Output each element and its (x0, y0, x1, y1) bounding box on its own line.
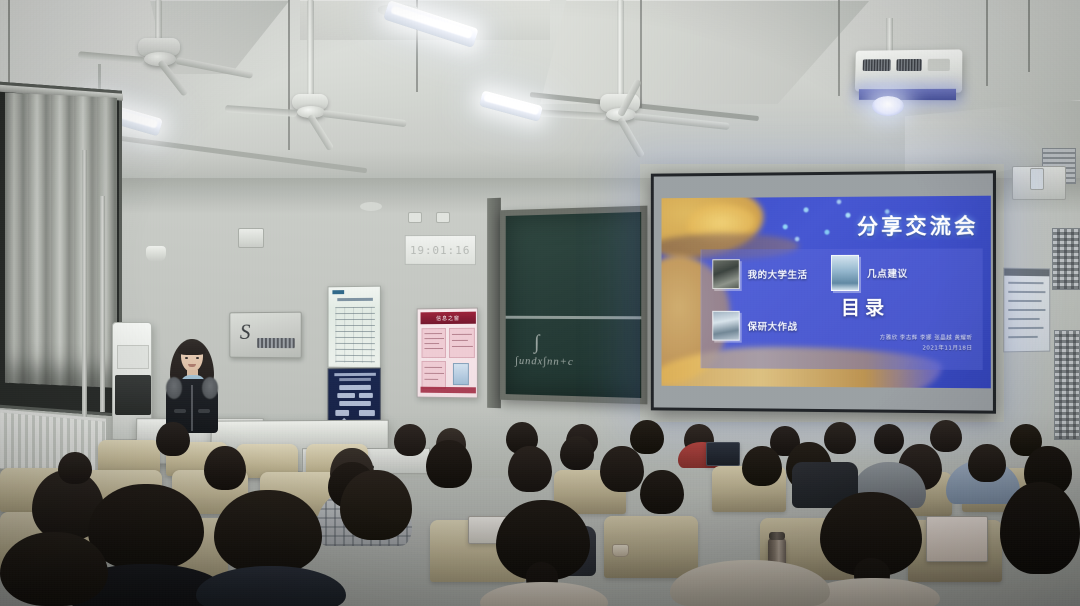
projection-screen: 分享交流会 我的大学生活 几点建议 保研大作战 目录 方雅欣 李志辉 李娜 张晶… (651, 170, 996, 413)
audience-head (508, 446, 552, 492)
power-outlet[interactable] (408, 212, 422, 223)
ventilation-grille (1054, 330, 1080, 440)
presenter (160, 337, 224, 433)
hanger-rod (1028, 0, 1030, 72)
presenter-coat-pocket (198, 409, 210, 413)
projector-base (859, 89, 956, 100)
audience-head (560, 436, 594, 470)
info-notice-card (453, 363, 469, 385)
audience-member (394, 424, 426, 456)
presenter-coat-pocket (174, 409, 186, 413)
tablet-device[interactable] (926, 516, 988, 562)
info-board-header: 信息之窗 (421, 312, 476, 325)
classroom-scene: S 19:01:16 信息之窗 (0, 0, 1080, 606)
chalkboard-divider (506, 316, 642, 320)
poster-title-line (334, 373, 376, 376)
green-chalkboard: ∫ ∫undx∫nn+c (500, 206, 647, 405)
presenter-mouth (188, 364, 196, 367)
hanger-rod (986, 0, 988, 86)
fan-pole (155, 0, 162, 42)
audience-shoulders (196, 566, 346, 606)
audience-head (600, 446, 644, 492)
info-cell (422, 361, 446, 389)
audience-head (394, 424, 426, 456)
wall-speaker (238, 228, 264, 248)
slide-credits: 方雅欣 李志辉 李娜 张晶越 黄耀昕 2021年11月18日 (880, 333, 973, 354)
audience-shoulders (670, 560, 830, 606)
flow-node (337, 393, 355, 398)
toc-item-1: 我的大学生活 (712, 259, 807, 289)
flow-node (359, 393, 373, 398)
audience-member (156, 422, 190, 456)
projector-vent (863, 59, 891, 71)
audience-shoulders (480, 582, 608, 606)
fan-pole (617, 0, 624, 98)
power-outlet[interactable] (436, 212, 450, 223)
audience-head (58, 452, 92, 484)
presenter-hood-fur (166, 377, 182, 399)
lecture-chair (98, 440, 160, 474)
projector-vent (896, 59, 921, 71)
clock-display: 19:01:16 (410, 243, 470, 256)
cabinet-logo-icon: S (240, 319, 251, 345)
audience-member (508, 446, 552, 492)
audience-member (496, 500, 590, 606)
slide-title: 分享交流会 (857, 210, 979, 241)
info-board-footer (421, 387, 476, 394)
audience-member (600, 446, 644, 492)
toc-item-2: 几点建议 (831, 255, 908, 291)
audience-head (640, 470, 684, 514)
audience-head (214, 490, 322, 574)
presenter-hood-fur (202, 377, 218, 399)
audience-head (426, 440, 472, 488)
building-photo-thumb-icon (831, 255, 859, 291)
presentation-slide: 分享交流会 我的大学生活 几点建议 保研大作战 目录 方雅欣 李志辉 李娜 张晶… (662, 196, 991, 389)
laptop[interactable] (706, 442, 740, 466)
slide-date: 2021年11月18日 (880, 344, 973, 355)
presenter-coat-zipper (191, 385, 193, 431)
presenter-names: 方雅欣 李志辉 李娜 张晶越 黄耀昕 (880, 333, 973, 344)
ceiling-projector (855, 49, 963, 92)
poster-title-line (337, 298, 373, 301)
wall-cabinet (1030, 168, 1044, 190)
info-cell (422, 328, 446, 358)
blackboard-track (487, 198, 501, 408)
audience-member (340, 470, 412, 540)
poster-subtitle-line (339, 378, 371, 381)
poster-header-bar (332, 290, 377, 295)
info-window-board: 信息之窗 (417, 308, 478, 399)
audience-head (1000, 482, 1080, 574)
audience-member (0, 532, 108, 606)
wall-sensor (146, 246, 166, 262)
wall-pipe (100, 196, 105, 412)
audience-member (640, 470, 684, 514)
schedule-poster (328, 286, 381, 369)
audience-head (0, 532, 108, 606)
presenter-eye (196, 357, 199, 359)
audience-head (968, 444, 1006, 482)
media-control-cabinet[interactable]: S (229, 312, 301, 359)
audience-member (214, 490, 322, 606)
ventilation-grille (1052, 228, 1080, 290)
thermos-cap (769, 532, 785, 540)
chalk-mark: ∫ (534, 332, 539, 355)
audience-head (204, 446, 246, 490)
smoke-detector (360, 202, 382, 211)
fan-pole (307, 0, 314, 98)
flow-node (335, 410, 349, 416)
audience-member (58, 452, 92, 484)
digital-clock: 19:01:16 (405, 235, 476, 265)
wall-pipe (82, 150, 87, 430)
hanger-rod (640, 0, 642, 108)
toc-item-3-label: 保研大作战 (748, 319, 798, 333)
audience-member (204, 446, 246, 490)
info-board-header-text: 信息之窗 (436, 314, 460, 321)
audience-member (820, 492, 922, 606)
ac-vent (115, 375, 151, 415)
chalk-mark: ∫undx∫nn+c (515, 355, 574, 368)
audience-member (426, 440, 472, 488)
info-cell (449, 328, 475, 358)
toc-item-2-label: 几点建议 (867, 266, 908, 280)
audience-member (968, 444, 1006, 482)
mountain-photo-thumb-icon (712, 311, 739, 341)
hanger-rod (838, 0, 840, 96)
notice-header-bar (1004, 269, 1050, 277)
flow-node (339, 385, 371, 390)
flow-node (339, 401, 371, 406)
poster-schedule-grid (335, 307, 375, 363)
ac-panel (117, 345, 149, 369)
audience-head (742, 446, 782, 486)
slide-section-heading: 目录 (841, 293, 889, 320)
presenter-eye (185, 357, 188, 359)
ceiling-beam (540, 0, 870, 104)
audience-member (670, 560, 830, 606)
audience-member (1000, 482, 1080, 606)
toc-item-1-label: 我的大学生活 (748, 267, 808, 281)
hanger-rod (288, 0, 290, 150)
toc-item-3: 保研大作战 (712, 311, 797, 341)
cup (612, 544, 629, 557)
projector-vent (928, 59, 950, 71)
audience-head (156, 422, 190, 456)
projector-lens (872, 96, 904, 116)
right-wall-notice (1003, 268, 1050, 353)
audience-member (742, 446, 782, 486)
audience-member (560, 436, 594, 470)
flow-node (359, 410, 375, 416)
audience-head (340, 470, 412, 540)
cabinet-label-strip (257, 338, 295, 348)
campus-photo-thumb-icon (712, 259, 739, 289)
